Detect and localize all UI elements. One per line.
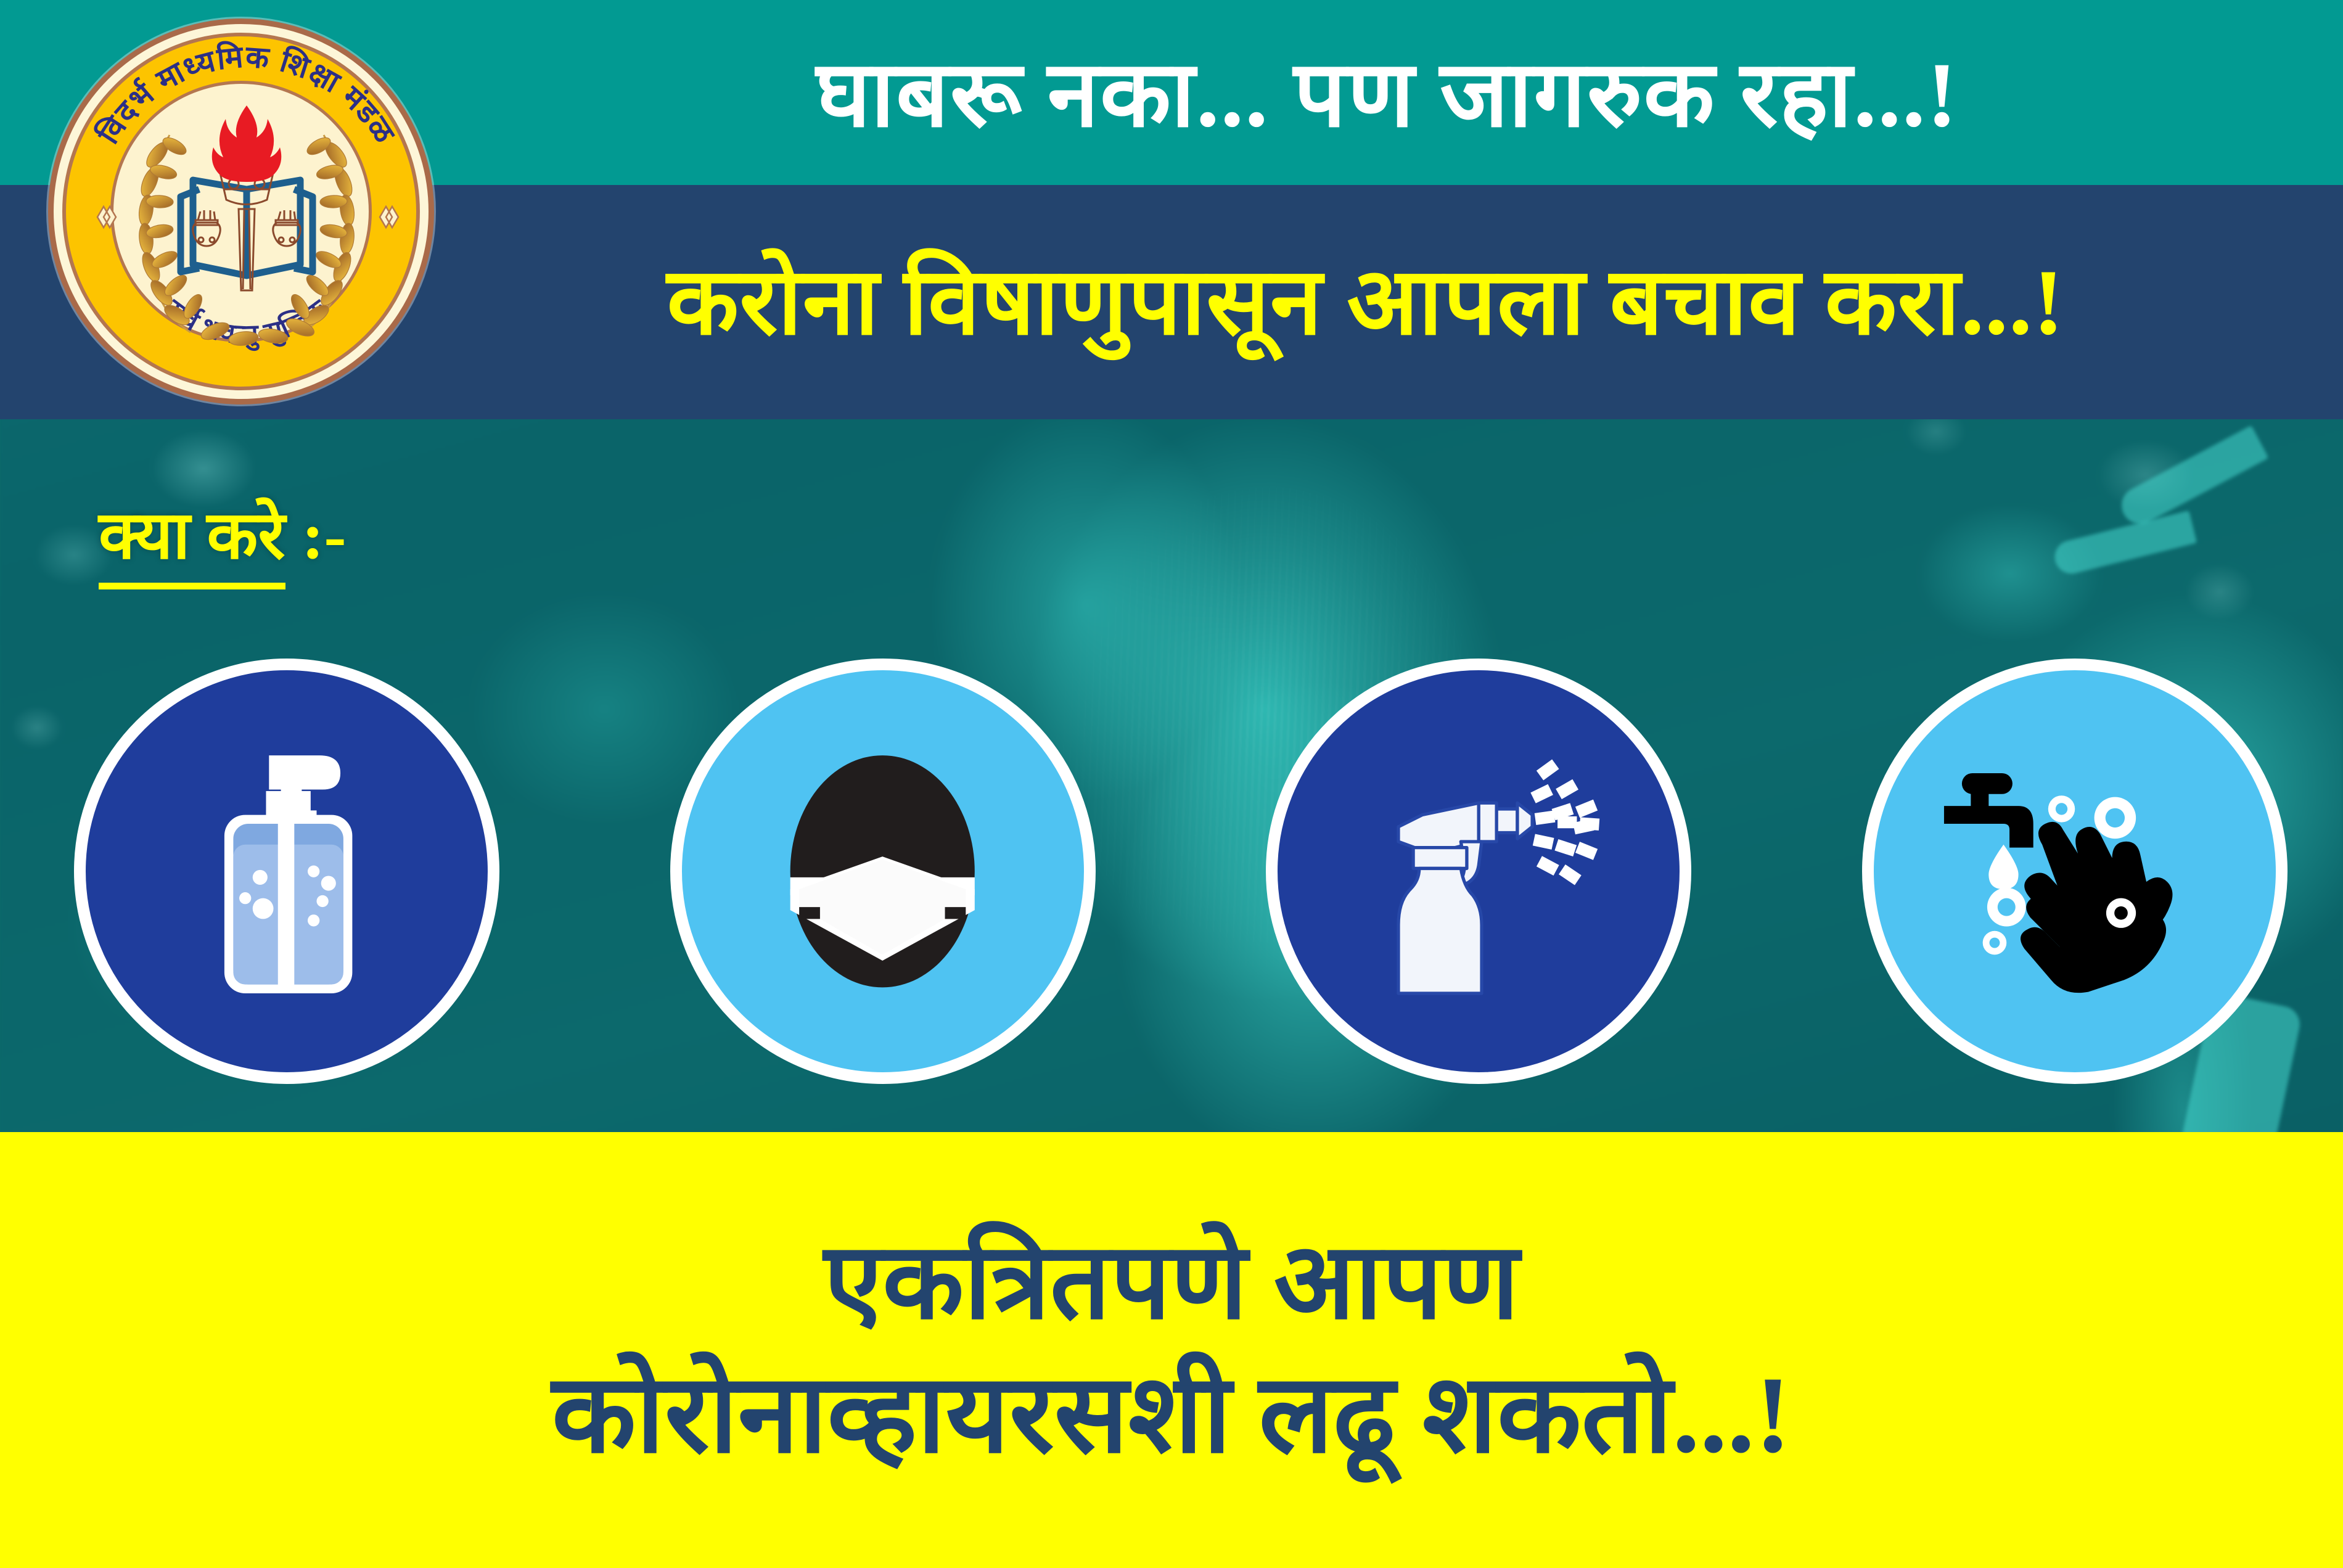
prevention-icon-row [74,659,2288,1084]
disinfectant-spray-bottle-icon [1266,659,1691,1084]
logo-artwork: विदर्भ माध्यमिक शिक्षा मंडळ सर्वे भवन्तु… [54,24,440,410]
footer-line-2: कोरोनाव्हायरसशी लढू शकतो...! [552,1348,1791,1482]
section-label: क्या करे :- [99,498,346,575]
footer-line-1: एकत्रितपणे आपण [824,1218,1519,1348]
footer-yellow-banner: एकत्रितपणे आपण कोरोनाव्हायरसशी लढू शकतो.… [0,1132,2343,1568]
section-label-text: क्या करे [99,499,285,589]
headline-secondary: करोना विषाणुपासून आपला बचाव करा...! [425,189,2306,416]
organization-logo: विदर्भ माध्यमिक शिक्षा मंडळ सर्वे भवन्तु… [48,18,434,404]
handwashing-under-tap-icon [1862,659,2288,1084]
section-label-suffix: :- [285,499,347,573]
hand-sanitizer-pump-bottle-icon [74,659,499,1084]
headline-primary: घाबरू नका... पण जागरुक रहा...! [469,11,2306,179]
covid-awareness-poster: घाबरू नका... पण जागरुक रहा...! करोना विष… [0,0,2343,1568]
face-mask-icon [670,659,1096,1084]
